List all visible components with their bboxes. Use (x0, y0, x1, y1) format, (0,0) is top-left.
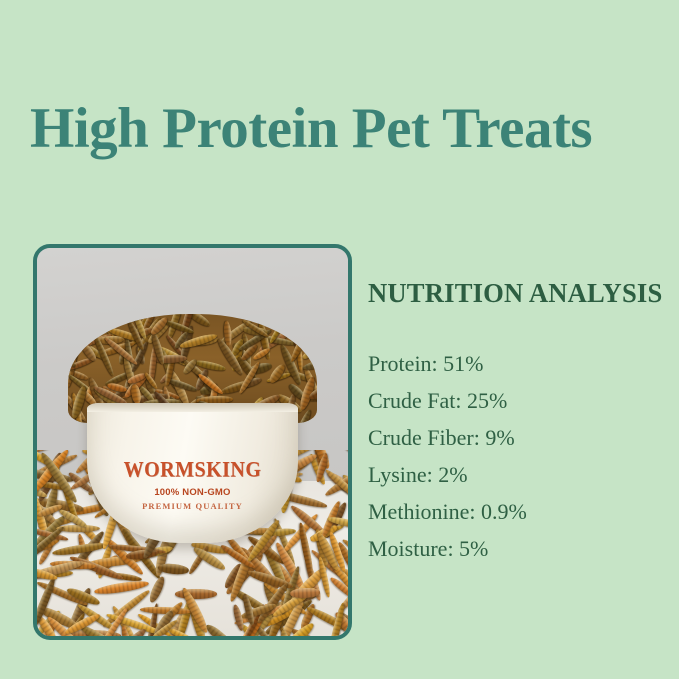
product-photo: WORMSKING 100% NON-GMO PREMIUM QUALITY (33, 244, 352, 640)
brand-tagline: PREMIUM QUALITY (87, 501, 298, 511)
brand-subtitle: 100% NON-GMO (87, 487, 298, 498)
nutrition-item: Protein: 51% (368, 345, 668, 382)
bowl-branding: WORMSKING 100% NON-GMO PREMIUM QUALITY (87, 459, 298, 511)
nutrition-item: Crude Fiber: 9% (368, 419, 668, 456)
mealworm (204, 622, 234, 636)
bowl-rim (87, 403, 298, 412)
ceramic-bowl: WORMSKING 100% NON-GMO PREMIUM QUALITY (87, 403, 298, 543)
nutrition-item: Crude Fat: 25% (368, 382, 668, 419)
mealworm (147, 575, 167, 604)
nutrition-item: Moisture: 5% (368, 530, 668, 567)
mealworm (315, 418, 317, 422)
brand-name: WORMSKING (87, 458, 298, 484)
product-photo-inner: WORMSKING 100% NON-GMO PREMIUM QUALITY (37, 248, 348, 636)
nutrition-list: Protein: 51%Crude Fat: 25%Crude Fiber: 9… (368, 345, 668, 567)
product-infographic: High Protein Pet Treats WORMSKING 100% N… (0, 0, 679, 679)
mealworm (157, 562, 189, 575)
nutrition-panel: NUTRITION ANALYSIS Protein: 51%Crude Fat… (368, 278, 668, 567)
mealworm (342, 450, 348, 476)
nutrition-item: Methionine: 0.9% (368, 493, 668, 530)
nutrition-heading: NUTRITION ANALYSIS (368, 278, 664, 308)
mealworm (175, 589, 217, 599)
page-title: High Protein Pet Treats (30, 98, 670, 160)
nutrition-item: Lysine: 2% (368, 456, 668, 493)
